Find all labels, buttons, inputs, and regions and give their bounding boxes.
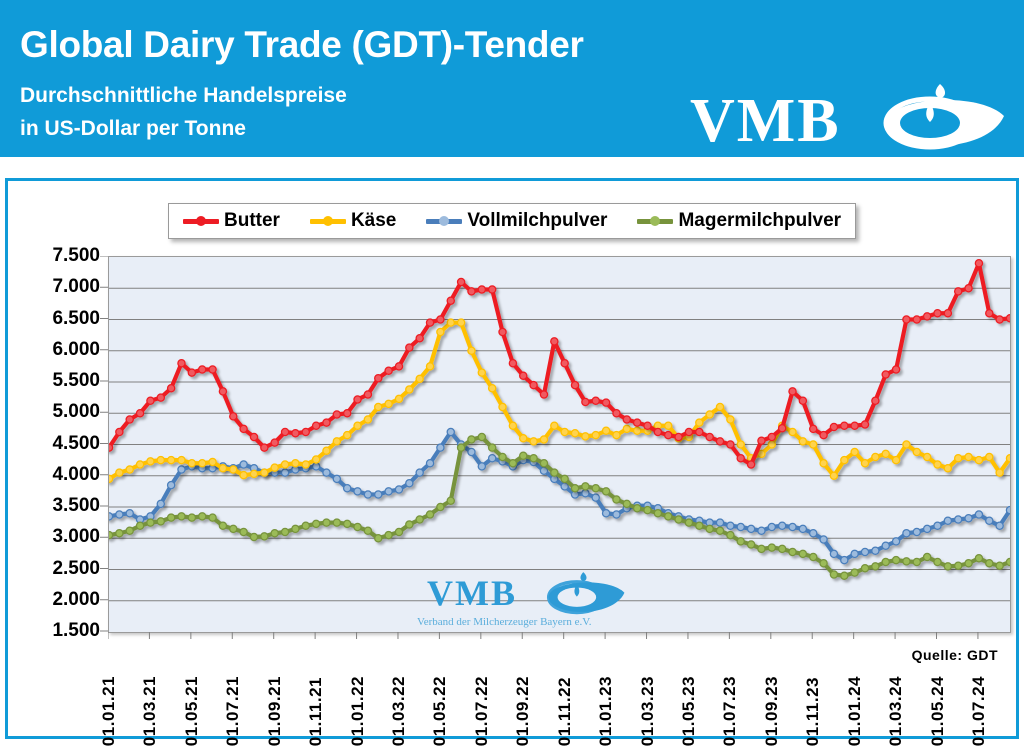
data-point (903, 558, 910, 565)
x-axis-tick-label: 01.07.23 (720, 676, 740, 746)
data-point (344, 520, 351, 527)
data-point (851, 550, 858, 557)
data-point (157, 457, 164, 464)
page-header: Global Dairy Trade (GDT)-Tender Durchsch… (0, 0, 1024, 157)
data-point (727, 416, 734, 423)
data-point (250, 470, 257, 477)
data-point (489, 385, 496, 392)
data-point (561, 360, 568, 367)
data-point (375, 403, 382, 410)
data-point (603, 399, 610, 406)
x-axis-tick-label: 01.11.22 (555, 677, 575, 746)
data-point (913, 448, 920, 455)
data-point (696, 522, 703, 529)
data-point (955, 562, 962, 569)
data-point (250, 533, 257, 540)
data-point (747, 525, 754, 532)
data-point (426, 363, 433, 370)
x-axis-tick-label: 01.01.23 (596, 676, 616, 746)
x-axis-tick-label: 01.09.21 (265, 676, 285, 746)
x-axis-tick-label: 01.03.21 (140, 676, 160, 746)
data-point (209, 458, 216, 465)
y-axis-tick-label: 6.000 (52, 339, 100, 361)
data-point (416, 516, 423, 523)
data-point (168, 457, 175, 464)
data-point (178, 513, 185, 520)
page-title: Global Dairy Trade (GDT)-Tender (20, 24, 584, 66)
data-point (344, 410, 351, 417)
data-point (385, 532, 392, 539)
data-point (768, 523, 775, 530)
data-point (416, 375, 423, 382)
data-point (540, 460, 547, 467)
data-point (924, 553, 931, 560)
data-point (333, 438, 340, 445)
data-point (924, 453, 931, 460)
data-point (603, 427, 610, 434)
vmb-logo-text: VMB (690, 86, 841, 157)
data-point (665, 422, 672, 429)
data-point (406, 521, 413, 528)
data-point (747, 541, 754, 548)
data-point (147, 397, 154, 404)
data-point (489, 444, 496, 451)
data-point (147, 458, 154, 465)
data-point (779, 425, 786, 432)
data-point (116, 469, 123, 476)
x-axis-tick-label: 01.01.21 (99, 676, 119, 746)
data-point (623, 500, 630, 507)
data-point (830, 472, 837, 479)
data-point (509, 422, 516, 429)
data-point (975, 511, 982, 518)
data-point (530, 455, 537, 462)
data-point (478, 286, 485, 293)
data-point (261, 444, 268, 451)
data-point (716, 403, 723, 410)
data-point (426, 319, 433, 326)
data-point (406, 480, 413, 487)
data-point (520, 372, 527, 379)
y-axis-tick-label: 4.500 (52, 433, 100, 455)
data-point (551, 469, 558, 476)
data-point (271, 530, 278, 537)
data-point (395, 395, 402, 402)
data-point (136, 410, 143, 417)
data-point (986, 560, 993, 567)
data-point (240, 472, 247, 479)
data-point (882, 558, 889, 565)
data-point (271, 464, 278, 471)
data-point (240, 425, 247, 432)
data-point (209, 514, 216, 521)
data-point (375, 535, 382, 542)
data-point (126, 416, 133, 423)
x-axis-tick-label: 01.09.22 (513, 676, 533, 746)
data-point (810, 425, 817, 432)
data-point (364, 391, 371, 398)
data-point (603, 488, 610, 495)
y-axis-tick-label: 7.500 (52, 245, 100, 267)
data-point (219, 465, 226, 472)
data-point (737, 441, 744, 448)
data-point (768, 433, 775, 440)
data-point (540, 391, 547, 398)
data-point (861, 421, 868, 428)
data-point (458, 319, 465, 326)
data-point (975, 555, 982, 562)
data-point (468, 436, 475, 443)
y-axis-tick-label: 5.000 (52, 401, 100, 423)
data-point (944, 517, 951, 524)
data-point (841, 557, 848, 564)
data-point (986, 453, 993, 460)
data-point (354, 422, 361, 429)
data-point (582, 433, 589, 440)
data-point (975, 260, 982, 267)
data-point (665, 513, 672, 520)
data-point (333, 475, 340, 482)
data-point (406, 344, 413, 351)
data-point (199, 366, 206, 373)
data-point (168, 385, 175, 392)
data-point (706, 411, 713, 418)
data-point (654, 428, 661, 435)
y-axis-ticks (100, 256, 108, 633)
data-point (333, 519, 340, 526)
data-point (168, 482, 175, 489)
x-axis-tick-label: 01.01.24 (845, 676, 865, 746)
x-axis-tick-label: 01.11.21 (306, 677, 326, 746)
data-point (178, 466, 185, 473)
data-point (219, 388, 226, 395)
data-point (789, 428, 796, 435)
vmb-milk-drop-icon (868, 78, 1008, 163)
data-point (468, 288, 475, 295)
data-point (520, 452, 527, 459)
data-point (934, 558, 941, 565)
x-axis-tick-label: 01.05.21 (182, 676, 202, 746)
data-point (126, 527, 133, 534)
data-point (613, 511, 620, 518)
data-point (975, 457, 982, 464)
data-point (313, 463, 320, 470)
data-point (219, 522, 226, 529)
data-point (126, 466, 133, 473)
data-point (737, 455, 744, 462)
data-point (437, 444, 444, 451)
data-point (716, 527, 723, 534)
data-point (634, 505, 641, 512)
data-point (996, 469, 1003, 476)
y-axis-tick-label: 2.500 (52, 558, 100, 580)
data-point (147, 519, 154, 526)
data-point (333, 411, 340, 418)
data-point (747, 461, 754, 468)
data-point (623, 416, 630, 423)
data-point (354, 396, 361, 403)
data-point (892, 457, 899, 464)
data-point (644, 422, 651, 429)
data-point (250, 433, 257, 440)
data-point (913, 316, 920, 323)
data-point (872, 397, 879, 404)
data-point (634, 427, 641, 434)
data-point (292, 525, 299, 532)
data-point (789, 548, 796, 555)
data-point (913, 558, 920, 565)
data-point (571, 382, 578, 389)
data-point (1006, 315, 1010, 322)
data-point (965, 453, 972, 460)
data-point (613, 432, 620, 439)
data-point (302, 522, 309, 529)
data-point (851, 422, 858, 429)
data-point (737, 523, 744, 530)
data-point (188, 514, 195, 521)
x-axis-tick-label: 01.11.23 (803, 677, 823, 746)
data-point (478, 433, 485, 440)
data-point (654, 510, 661, 517)
data-point (261, 469, 268, 476)
data-point (810, 441, 817, 448)
data-point (716, 438, 723, 445)
data-point (903, 316, 910, 323)
data-point (944, 310, 951, 317)
data-point (323, 469, 330, 476)
data-point (996, 522, 1003, 529)
x-axis-tick-label: 01.03.22 (389, 676, 409, 746)
data-point (468, 448, 475, 455)
data-point (986, 310, 993, 317)
data-point (892, 366, 899, 373)
data-point (354, 523, 361, 530)
data-point (1006, 455, 1010, 462)
chart-container: Butter Käse Vollmilchpulver (5, 178, 1019, 739)
data-point (675, 516, 682, 523)
series-line (109, 263, 1010, 464)
data-point (727, 441, 734, 448)
data-point (706, 433, 713, 440)
data-point (737, 538, 744, 545)
data-point (188, 460, 195, 467)
data-point (830, 423, 837, 430)
data-point (116, 428, 123, 435)
data-point (571, 485, 578, 492)
data-point (592, 432, 599, 439)
data-point (364, 491, 371, 498)
y-axis-tick-label: 5.500 (52, 370, 100, 392)
data-point (861, 548, 868, 555)
data-point (109, 444, 113, 451)
data-point (230, 413, 237, 420)
data-point (364, 416, 371, 423)
data-point (499, 453, 506, 460)
data-point (292, 460, 299, 467)
data-point (561, 475, 568, 482)
data-point (395, 528, 402, 535)
page-subtitle-line2: in US-Dollar per Tonne (20, 117, 246, 141)
data-point (872, 563, 879, 570)
data-point (416, 469, 423, 476)
y-axis-tick-label: 3.000 (52, 526, 100, 548)
data-point (313, 520, 320, 527)
data-point (240, 528, 247, 535)
data-point (540, 436, 547, 443)
data-point (509, 460, 516, 467)
data-point (924, 525, 931, 532)
data-point (313, 456, 320, 463)
data-point (799, 438, 806, 445)
data-point (758, 437, 765, 444)
data-point (109, 532, 113, 539)
data-point (109, 513, 113, 520)
data-point (582, 490, 589, 497)
data-point (323, 519, 330, 526)
chart-page: Global Dairy Trade (GDT)-Tender Durchsch… (0, 0, 1024, 744)
plot-area: VMB Verband der Milcherzeuger Bayern e.V… (108, 256, 1011, 633)
data-point (820, 536, 827, 543)
data-point (861, 565, 868, 572)
data-point (768, 544, 775, 551)
x-axis-labels: 01.01.2101.03.2101.05.2101.07.2101.09.21… (108, 636, 1011, 746)
data-point (551, 422, 558, 429)
y-axis-tick-label: 4.000 (52, 464, 100, 486)
data-point (178, 457, 185, 464)
data-point (406, 386, 413, 393)
data-point (613, 410, 620, 417)
data-point (416, 335, 423, 342)
data-point (509, 360, 516, 367)
data-point (996, 562, 1003, 569)
data-point (261, 533, 268, 540)
data-point (716, 519, 723, 526)
data-point (841, 572, 848, 579)
x-axis-tick-label: 01.03.24 (886, 676, 906, 746)
x-axis-tick-label: 01.05.22 (430, 676, 450, 746)
data-point (116, 530, 123, 537)
data-point (789, 388, 796, 395)
chart-canvas (109, 257, 1010, 632)
data-point (892, 538, 899, 545)
data-point (934, 461, 941, 468)
data-point (1006, 558, 1010, 565)
data-point (447, 428, 454, 435)
data-point (426, 460, 433, 467)
y-axis-tick-label: 3.500 (52, 495, 100, 517)
data-point (696, 428, 703, 435)
y-axis-tick-label: 1.500 (52, 620, 100, 642)
data-point (810, 553, 817, 560)
series-vollmilchpulver (109, 428, 1010, 563)
data-point (281, 469, 288, 476)
data-point (965, 285, 972, 292)
data-point (799, 550, 806, 557)
x-axis-tick-label: 01.07.22 (472, 676, 492, 746)
data-point (136, 461, 143, 468)
data-point (675, 433, 682, 440)
data-point (437, 503, 444, 510)
data-point (872, 547, 879, 554)
data-point (986, 517, 993, 524)
data-point (499, 403, 506, 410)
data-point (551, 338, 558, 345)
data-point (447, 297, 454, 304)
data-point (841, 422, 848, 429)
data-point (178, 360, 185, 367)
data-point (789, 523, 796, 530)
plot-wrapper: 7.5007.0006.5006.0005.5005.0004.5004.000… (8, 181, 1016, 736)
data-point (395, 363, 402, 370)
data-point (882, 450, 889, 457)
data-point (924, 313, 931, 320)
data-point (292, 430, 299, 437)
data-point (302, 461, 309, 468)
data-point (592, 494, 599, 501)
data-point (592, 397, 599, 404)
data-point (872, 453, 879, 460)
data-point (696, 419, 703, 426)
data-point (499, 328, 506, 335)
data-point (375, 491, 382, 498)
data-point (892, 557, 899, 564)
data-point (820, 460, 827, 467)
data-point (157, 518, 164, 525)
data-point (644, 507, 651, 514)
data-point (230, 466, 237, 473)
data-point (799, 525, 806, 532)
data-point (313, 422, 320, 429)
data-point (841, 457, 848, 464)
data-point (199, 513, 206, 520)
x-axis-tick-label: 01.09.23 (762, 676, 782, 746)
data-point (727, 522, 734, 529)
data-point (861, 460, 868, 467)
data-point (302, 428, 309, 435)
x-axis-tick-label: 01.07.21 (223, 676, 243, 746)
data-point (489, 455, 496, 462)
data-point (188, 369, 195, 376)
x-axis-tick-label: 01.07.24 (969, 676, 989, 746)
data-point (592, 485, 599, 492)
data-point (934, 522, 941, 529)
data-point (323, 419, 330, 426)
data-point (965, 560, 972, 567)
y-axis-tick-label: 7.000 (52, 276, 100, 298)
data-point (437, 328, 444, 335)
data-point (903, 441, 910, 448)
data-point (344, 432, 351, 439)
x-axis-tick-label: 01.05.24 (928, 676, 948, 746)
data-point (965, 515, 972, 522)
data-point (882, 371, 889, 378)
data-point (323, 447, 330, 454)
data-point (281, 528, 288, 535)
data-point (157, 394, 164, 401)
data-point (437, 316, 444, 323)
data-point (934, 310, 941, 317)
series-line (109, 432, 1010, 560)
data-point (385, 488, 392, 495)
x-axis-ticks (108, 632, 1009, 640)
data-point (520, 435, 527, 442)
data-point (830, 550, 837, 557)
data-point (281, 461, 288, 468)
data-point (230, 525, 237, 532)
data-point (109, 475, 113, 482)
data-point (706, 525, 713, 532)
data-point (582, 398, 589, 405)
